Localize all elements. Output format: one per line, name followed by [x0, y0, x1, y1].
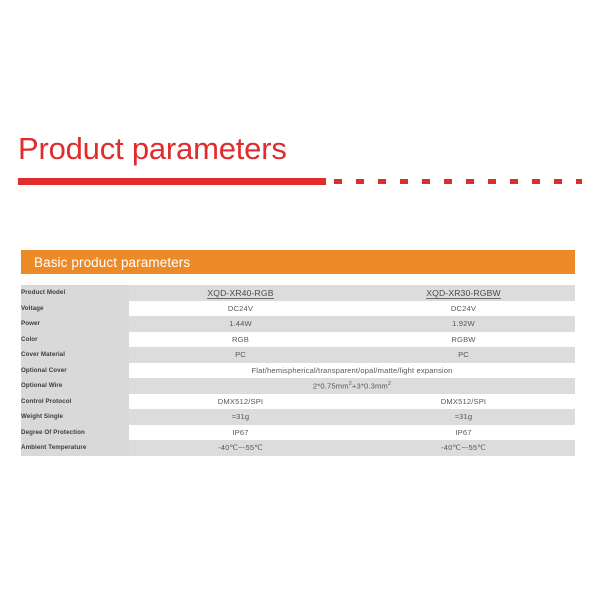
table-cell-merged: Flat/hemispherical/transparent/opal/matt… — [129, 363, 575, 379]
table-cell-value: PC — [352, 347, 575, 363]
table-cell-value: DMX512/SPI — [352, 394, 575, 410]
table-row-label: Cover Material — [21, 347, 129, 363]
table-cell-value: DC24V — [352, 301, 575, 317]
table-row-label: Optional Wire — [21, 378, 129, 394]
table-cell-value: -40℃~-55℃ — [352, 440, 575, 456]
spec-table-body: Product ModelXQD-XR40-RGBXQD-XR30-RGBWVo… — [21, 285, 575, 456]
table-row: Power1.44W1.92W — [21, 316, 575, 332]
table-row: VoltageDC24VDC24V — [21, 301, 575, 317]
table-row-label: Product Model — [21, 285, 129, 301]
table-cell-value: ≈31g — [352, 409, 575, 425]
section-title-block: Product parameters — [18, 130, 582, 168]
product-parameters-page: Product parameters Basic product paramet… — [0, 0, 600, 600]
table-cell-value: IP67 — [352, 425, 575, 441]
section-band-label: Basic product parameters — [21, 255, 190, 270]
table-cell-model-name: XQD-XR40-RGB — [129, 285, 352, 301]
table-row-label: Color — [21, 332, 129, 348]
table-cell-value: DMX512/SPI — [129, 394, 352, 410]
superscript-two: 2 — [349, 381, 352, 387]
spec-table: Product ModelXQD-XR40-RGBXQD-XR30-RGBWVo… — [21, 285, 575, 456]
table-row-label: Voltage — [21, 301, 129, 317]
table-cell-merged: 2*0.75mm2+3*0.3mm2 — [129, 378, 575, 394]
page-title: Product parameters — [18, 130, 582, 168]
table-cell-value: RGBW — [352, 332, 575, 348]
table-row-label: Control Protocol — [21, 394, 129, 410]
table-cell-value: IP67 — [129, 425, 352, 441]
table-row-label: Ambient Temperature — [21, 440, 129, 456]
table-cell-value: 1.92W — [352, 316, 575, 332]
section-band: Basic product parameters — [21, 250, 575, 274]
superscript-two: 2 — [388, 381, 391, 387]
table-row: Cover MaterialPCPC — [21, 347, 575, 363]
table-row: Weight Single≈31g≈31g — [21, 409, 575, 425]
table-cell-model-name: XQD-XR30-RGBW — [352, 285, 575, 301]
table-row: Control ProtocolDMX512/SPIDMX512/SPI — [21, 394, 575, 410]
table-cell-value: RGB — [129, 332, 352, 348]
rule-dashed-segment — [334, 179, 582, 184]
table-row-label: Weight Single — [21, 409, 129, 425]
table-cell-value: DC24V — [129, 301, 352, 317]
table-cell-value: PC — [129, 347, 352, 363]
table-cell-value: -40℃~-55℃ — [129, 440, 352, 456]
table-row: Product ModelXQD-XR40-RGBXQD-XR30-RGBW — [21, 285, 575, 301]
table-row: ColorRGBRGBW — [21, 332, 575, 348]
table-row-label: Power — [21, 316, 129, 332]
model-name-underlined: XQD-XR40-RGB — [207, 288, 273, 300]
rule-solid-segment — [18, 178, 326, 185]
table-row-label: Degree Of Protection — [21, 425, 129, 441]
table-row: Ambient Temperature-40℃~-55℃-40℃~-55℃ — [21, 440, 575, 456]
table-row: Degree Of ProtectionIP67IP67 — [21, 425, 575, 441]
table-row-label: Optional Cover — [21, 363, 129, 379]
table-cell-value: ≈31g — [129, 409, 352, 425]
model-name-underlined: XQD-XR30-RGBW — [426, 288, 501, 300]
title-underline-rule — [18, 178, 582, 185]
table-row: Optional CoverFlat/hemispherical/transpa… — [21, 363, 575, 379]
table-cell-value: 1.44W — [129, 316, 352, 332]
table-row: Optional Wire2*0.75mm2+3*0.3mm2 — [21, 378, 575, 394]
